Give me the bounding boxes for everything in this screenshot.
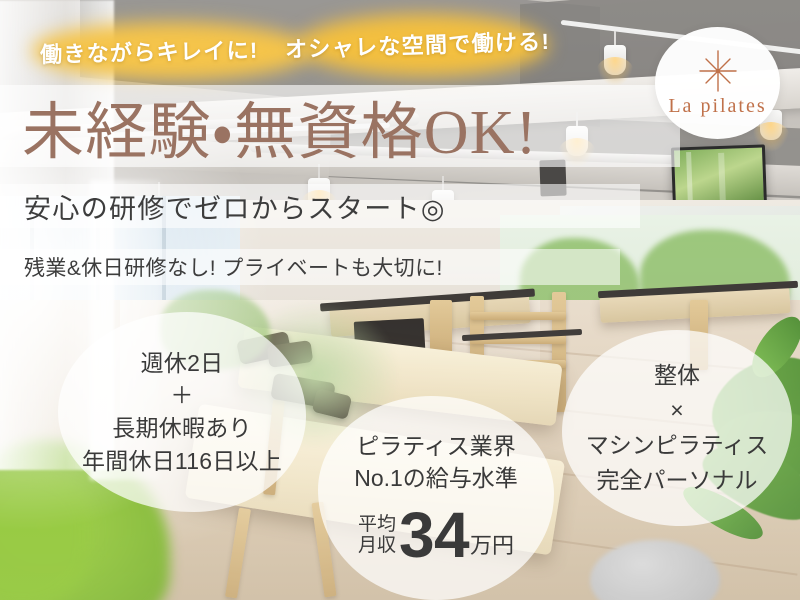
salary-line-1: ピラティス業界: [354, 431, 518, 462]
sparkle-star-icon: [696, 49, 740, 93]
bubble-service-text: 整体 × マシンピラティス 完全パーソナル: [586, 358, 769, 498]
salary-label: 平均 月収: [358, 514, 396, 557]
salary-amount-row: 平均 月収 34 万円: [354, 506, 518, 565]
page-title: 未経験・無資格OK!: [22, 86, 662, 166]
subhead-1: 安心の研修でゼロからスタート◎: [24, 185, 446, 227]
service-line-1: 整体: [586, 358, 769, 393]
holidays-line-1: 週休2日: [82, 347, 282, 380]
bubble-holidays-text: 週休2日 ＋ 長期休暇あり 年間休日116日以上: [82, 347, 282, 478]
bubble-salary: ピラティス業界 No.1の給与水準 平均 月収 34 万円: [318, 396, 554, 600]
salary-unit: 万円: [470, 531, 514, 561]
recruitment-banner: 働きながらキレイに! オシャレな空間で働ける! 未経験・無資格OK! 安心の研修…: [0, 0, 800, 600]
bubble-service: 整体 × マシンピラティス 完全パーソナル: [562, 330, 792, 526]
salary-amount: 34: [399, 506, 469, 565]
holidays-line-4: 年間休日116日以上: [82, 445, 282, 478]
brand-logo[interactable]: La pilates: [655, 27, 780, 139]
subhead-2: 残業&休日研修なし! プライベートも大切に!: [24, 249, 443, 285]
holidays-line-2: ＋: [82, 379, 282, 412]
bubble-salary-text: ピラティス業界 No.1の給与水準 平均 月収 34 万円: [354, 431, 518, 564]
salary-label-line-1: 平均: [358, 514, 396, 535]
holidays-line-3: 長期休暇あり: [82, 412, 282, 445]
salary-label-line-2: 月収: [358, 535, 396, 556]
tagline-1: 働きながらキレイに!: [40, 33, 259, 70]
brand-logo-text: La pilates: [668, 95, 766, 118]
service-line-2: ×: [586, 393, 769, 428]
service-line-3: マシンピラティス: [586, 428, 769, 463]
salary-line-2: No.1の給与水準: [354, 463, 518, 494]
service-line-4: 完全パーソナル: [586, 463, 769, 498]
